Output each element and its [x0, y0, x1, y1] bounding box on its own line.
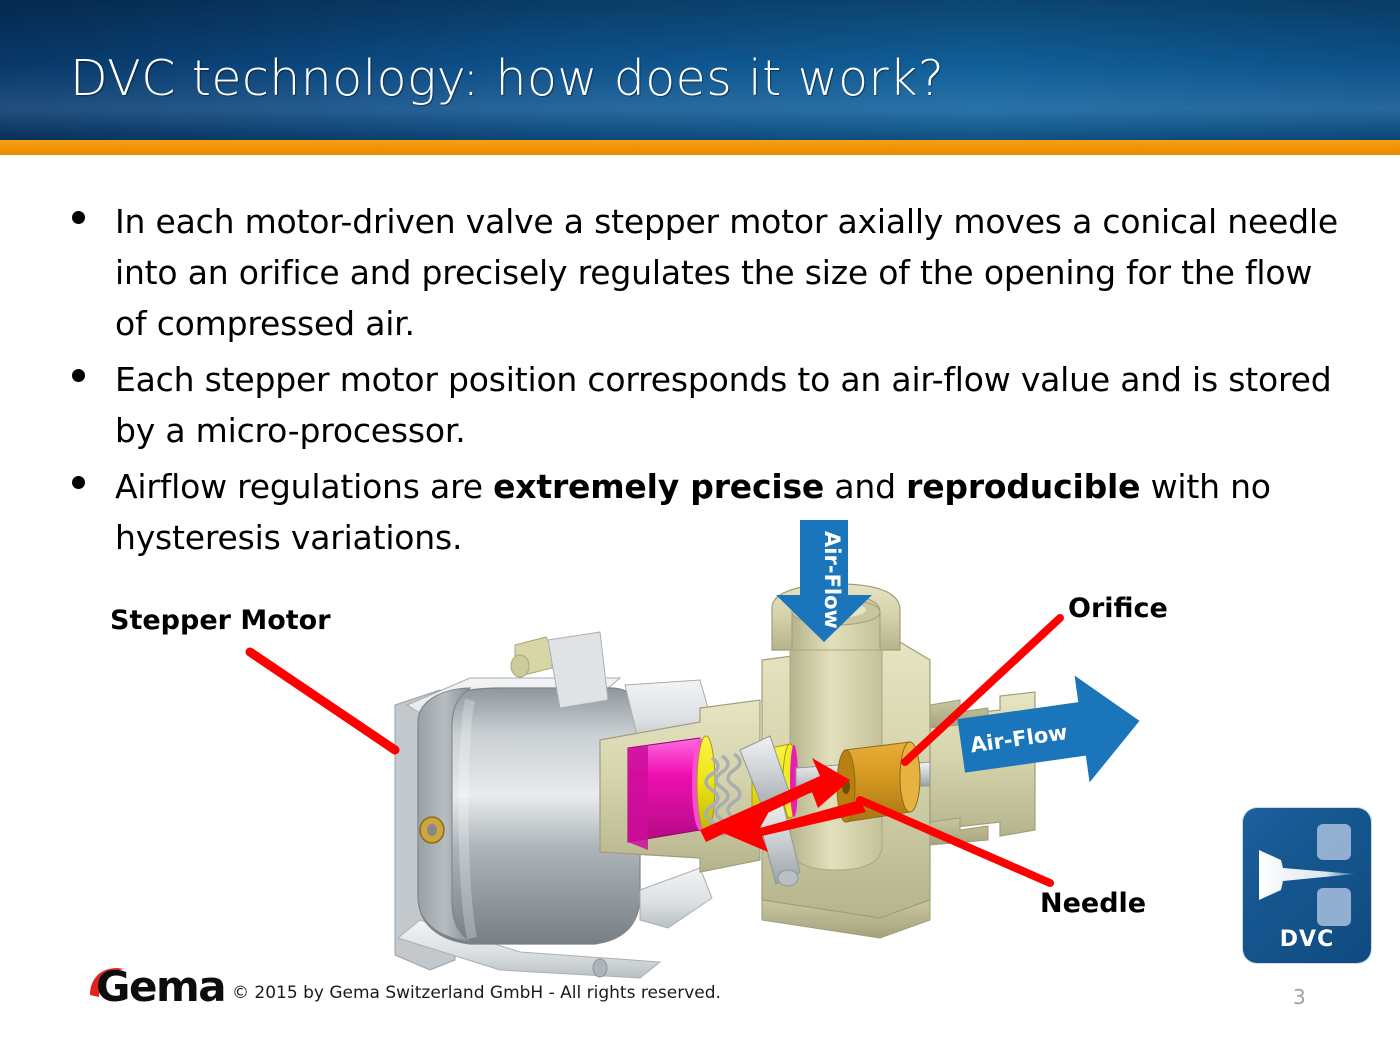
airflow-vertical-label: Air-Flow — [820, 531, 844, 629]
valve-diagram: Air-Flow Air-Flow — [0, 500, 1400, 990]
bullet-dot-icon — [72, 369, 85, 382]
label-stepper-motor: Stepper Motor — [110, 605, 331, 636]
header-accent-bar — [0, 140, 1400, 155]
label-needle: Needle — [1040, 888, 1146, 919]
dvc-badge-label: DVC — [1243, 927, 1371, 952]
page-number: 3 — [1293, 985, 1306, 1009]
gema-wordmark: Gema — [96, 962, 225, 1011]
gema-logo: Gema — [84, 965, 219, 1013]
slide-header: DVC technology: how does it work? — [0, 0, 1400, 140]
bullet-text: In each motor-driven valve a stepper mot… — [115, 202, 1338, 343]
dvc-badge: DVC — [1243, 808, 1371, 963]
page-title: DVC technology: how does it work? — [70, 50, 944, 107]
list-item: Each stepper motor position corresponds … — [60, 354, 1345, 456]
list-item: In each motor-driven valve a stepper mot… — [60, 196, 1345, 349]
bullet-dot-icon — [72, 476, 85, 489]
label-orifice: Orifice — [1068, 593, 1168, 624]
copyright-text: © 2015 by Gema Switzerland GmbH - All ri… — [232, 983, 721, 1003]
bullet-text: Each stepper motor position corresponds … — [115, 360, 1332, 450]
bullet-dot-icon — [72, 211, 85, 224]
